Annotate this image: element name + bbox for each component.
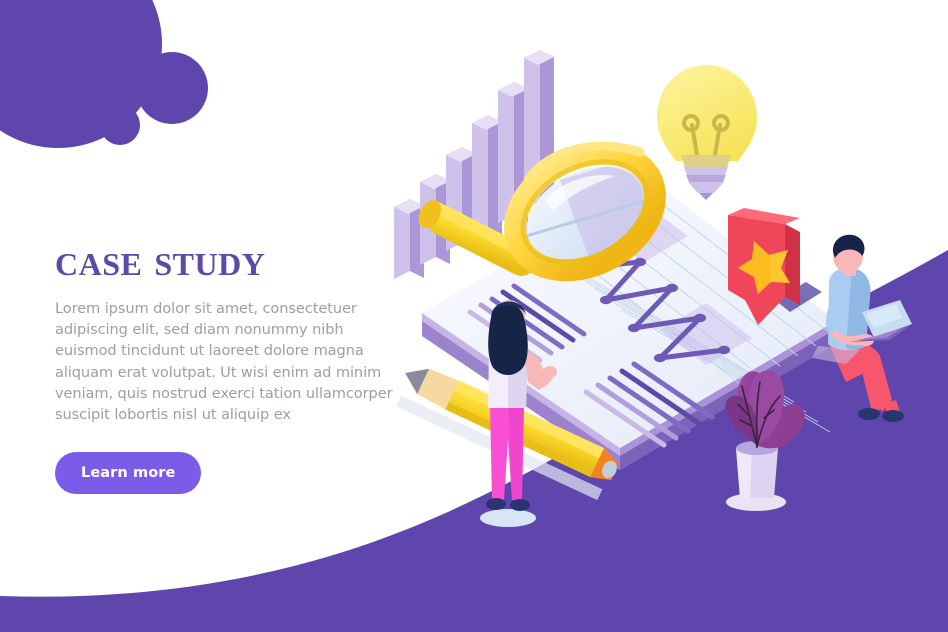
woman-shoe-left xyxy=(486,498,506,510)
page-title: Case Study xyxy=(55,236,415,284)
page-description: Lorem ipsum dolor sit amet, consectetuer… xyxy=(55,298,407,426)
woman-hand xyxy=(543,366,557,378)
hero-text-block: Case Study Lorem ipsum dolor sit amet, c… xyxy=(55,236,415,494)
man-shoe-left xyxy=(858,408,880,420)
woman-leg-shade xyxy=(508,405,524,500)
bulb-glass xyxy=(657,65,757,161)
learn-more-button[interactable]: Learn more xyxy=(55,452,201,494)
hero-canvas: Case Study Lorem ipsum dolor sit amet, c… xyxy=(0,0,948,632)
bulb-neck xyxy=(681,155,731,168)
woman-shoe-right xyxy=(510,499,530,511)
light-bulb xyxy=(657,65,757,200)
woman-hair xyxy=(488,303,528,375)
plant-pot-highlight xyxy=(736,448,752,498)
woman-shadow xyxy=(480,509,536,527)
bulb-base xyxy=(684,167,728,200)
badge-side xyxy=(785,224,800,305)
man-with-laptop xyxy=(826,235,912,422)
bar-4 xyxy=(472,115,502,237)
man-shoe-right xyxy=(882,410,904,422)
